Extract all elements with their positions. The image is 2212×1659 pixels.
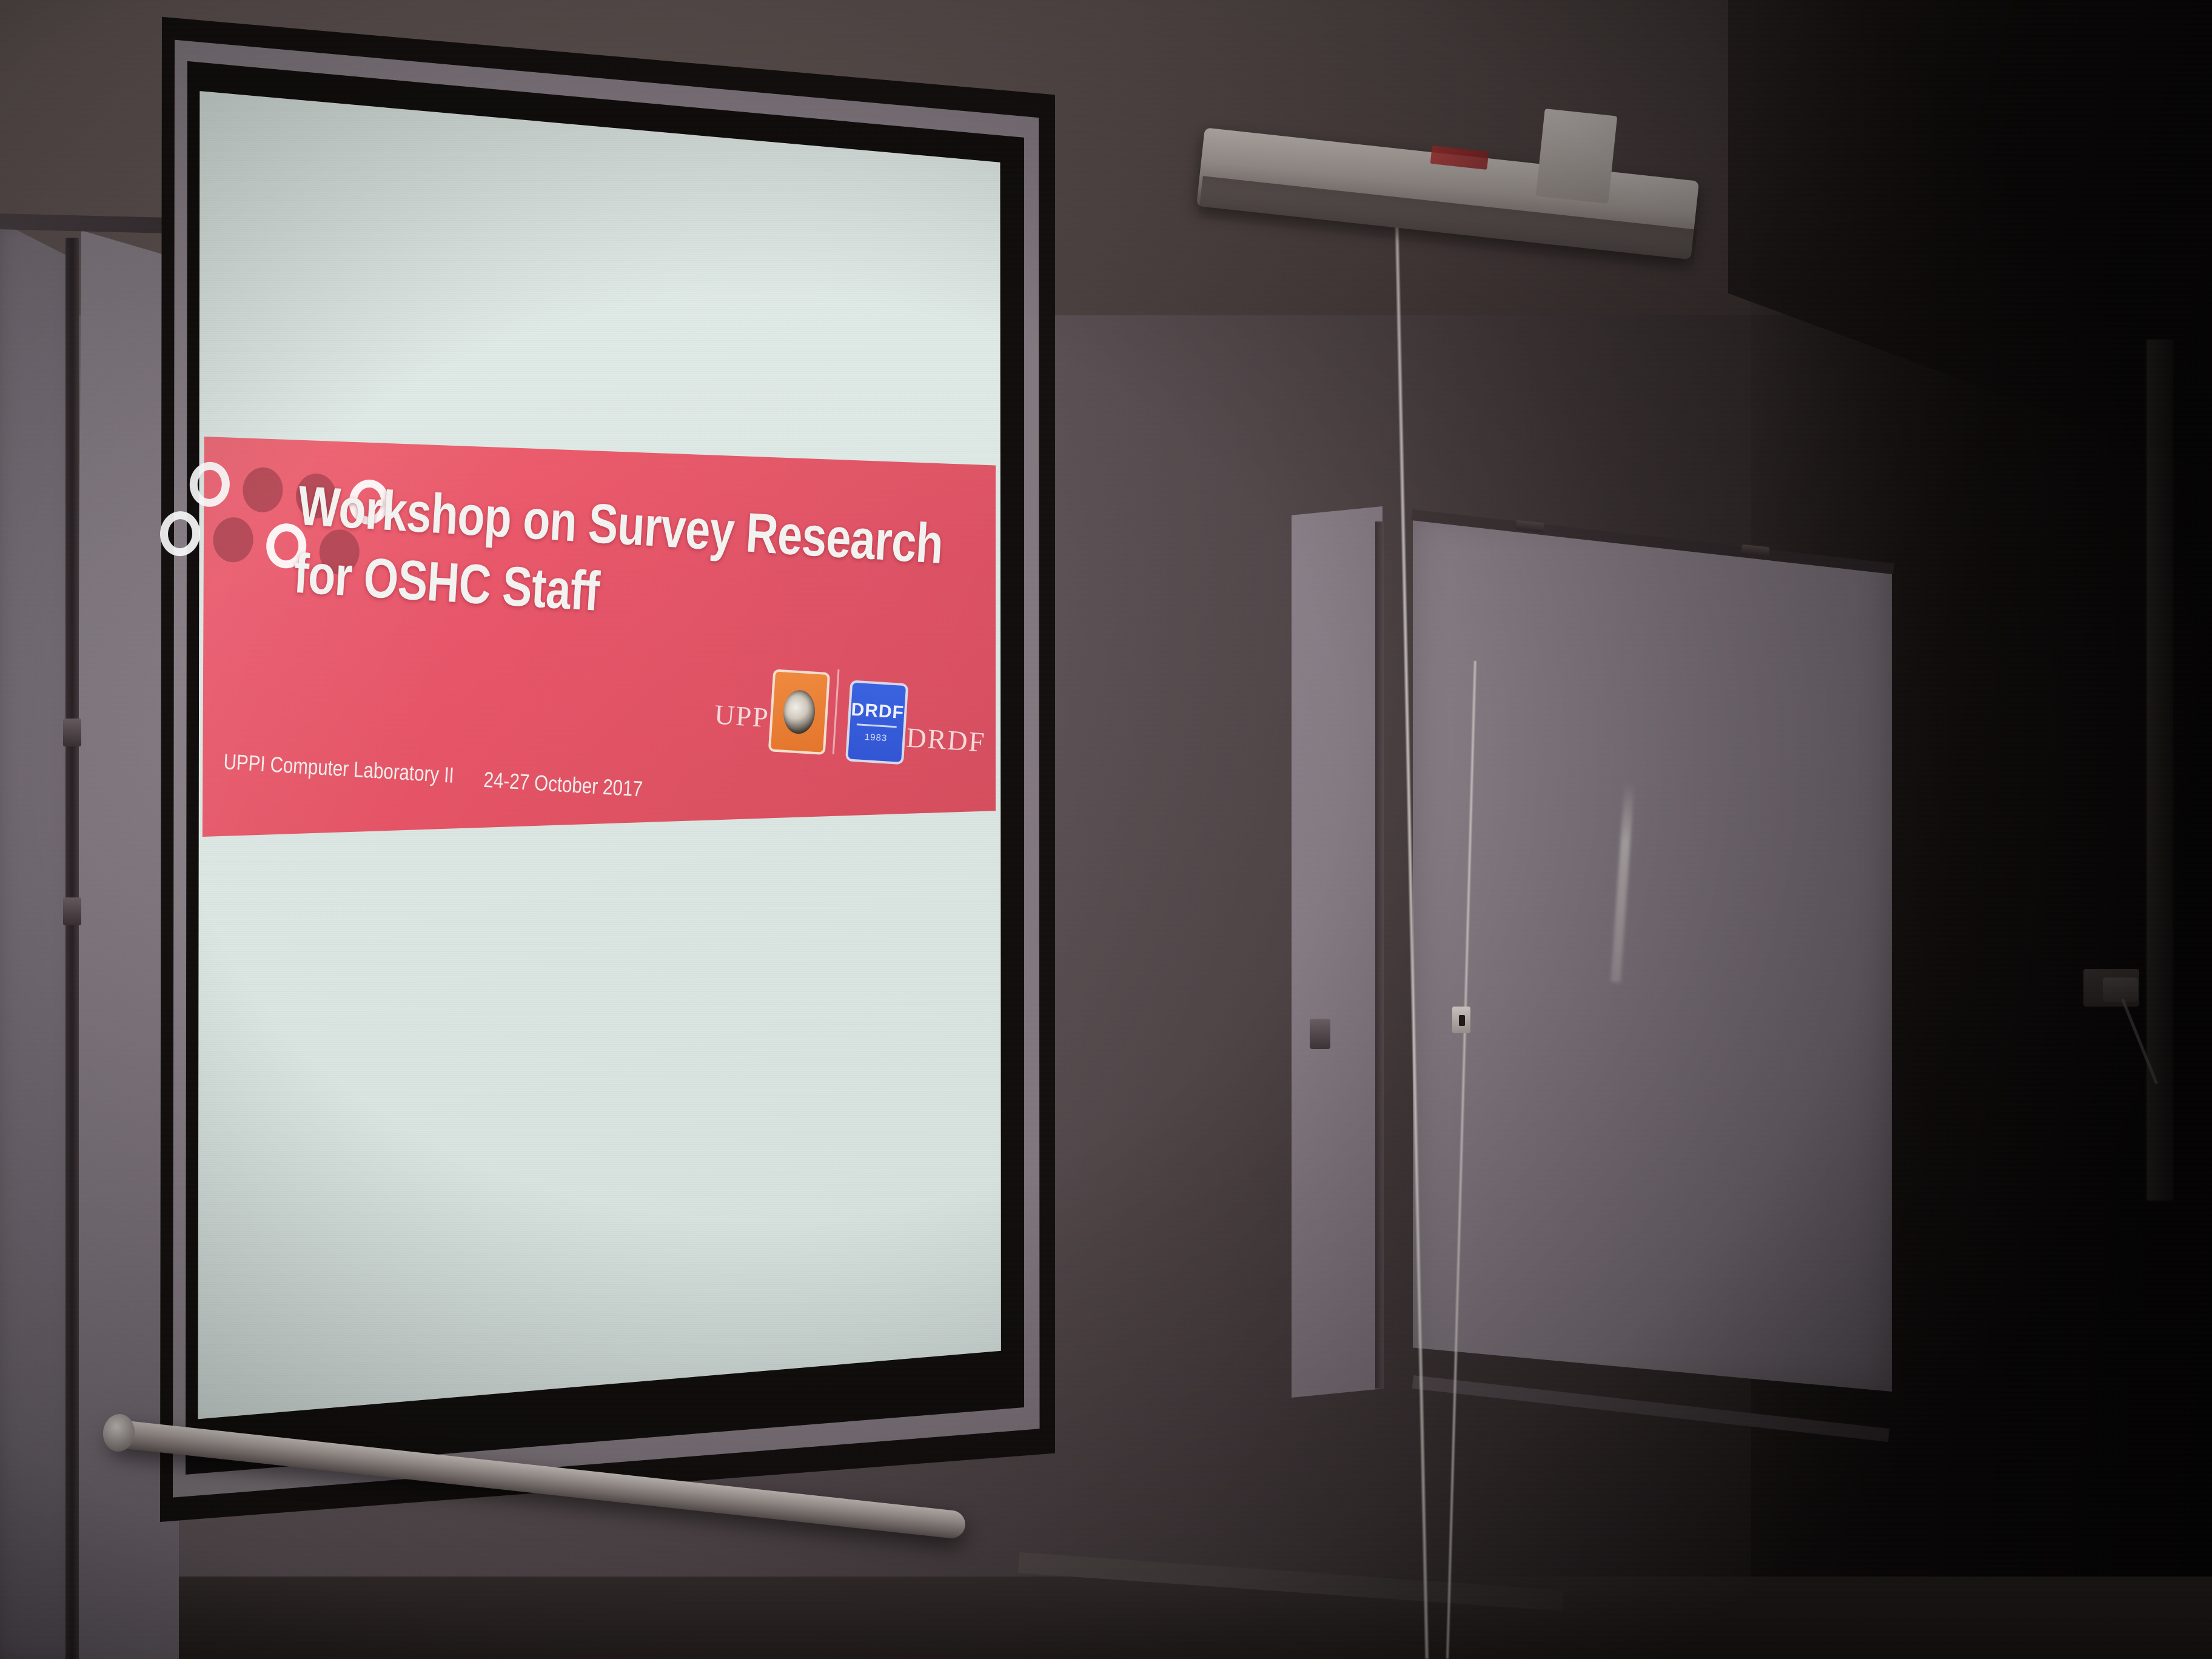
decor-dot [241, 466, 284, 514]
whiteboard-right [1413, 512, 1892, 1392]
uppi-logo-badge [768, 669, 830, 755]
projection-screen-assembly: Workshop on Survey Research for OSHC Sta… [303, 0, 1437, 1528]
outlet-plug[interactable] [2103, 977, 2138, 1002]
whiteboard-clip [63, 719, 81, 746]
drdf-logo-badge: DRDF 1983 [845, 680, 908, 765]
uppi-seal-icon [782, 689, 816, 735]
photo-scene: Workshop on Survey Research for OSHC Sta… [0, 0, 2212, 1659]
logo-divider [833, 669, 840, 754]
whiteboard-clip [63, 897, 81, 925]
drdf-badge-rule [857, 723, 896, 728]
drdf-badge-top-text: DRDF [851, 700, 905, 722]
roller-mount-bracket [1536, 109, 1617, 204]
decor-ring [189, 461, 231, 508]
drdf-badge-bottom-text: 1983 [864, 732, 887, 743]
decor-dot [212, 516, 255, 563]
cable-clip-hole [1459, 1015, 1465, 1026]
floor [0, 1577, 2212, 1659]
whiteboard-left-seam [65, 238, 79, 1659]
drdf-wordmark: DRDF [905, 721, 987, 758]
slide-logo-group: UPPI DRDF 1983 DRDF [714, 661, 982, 805]
